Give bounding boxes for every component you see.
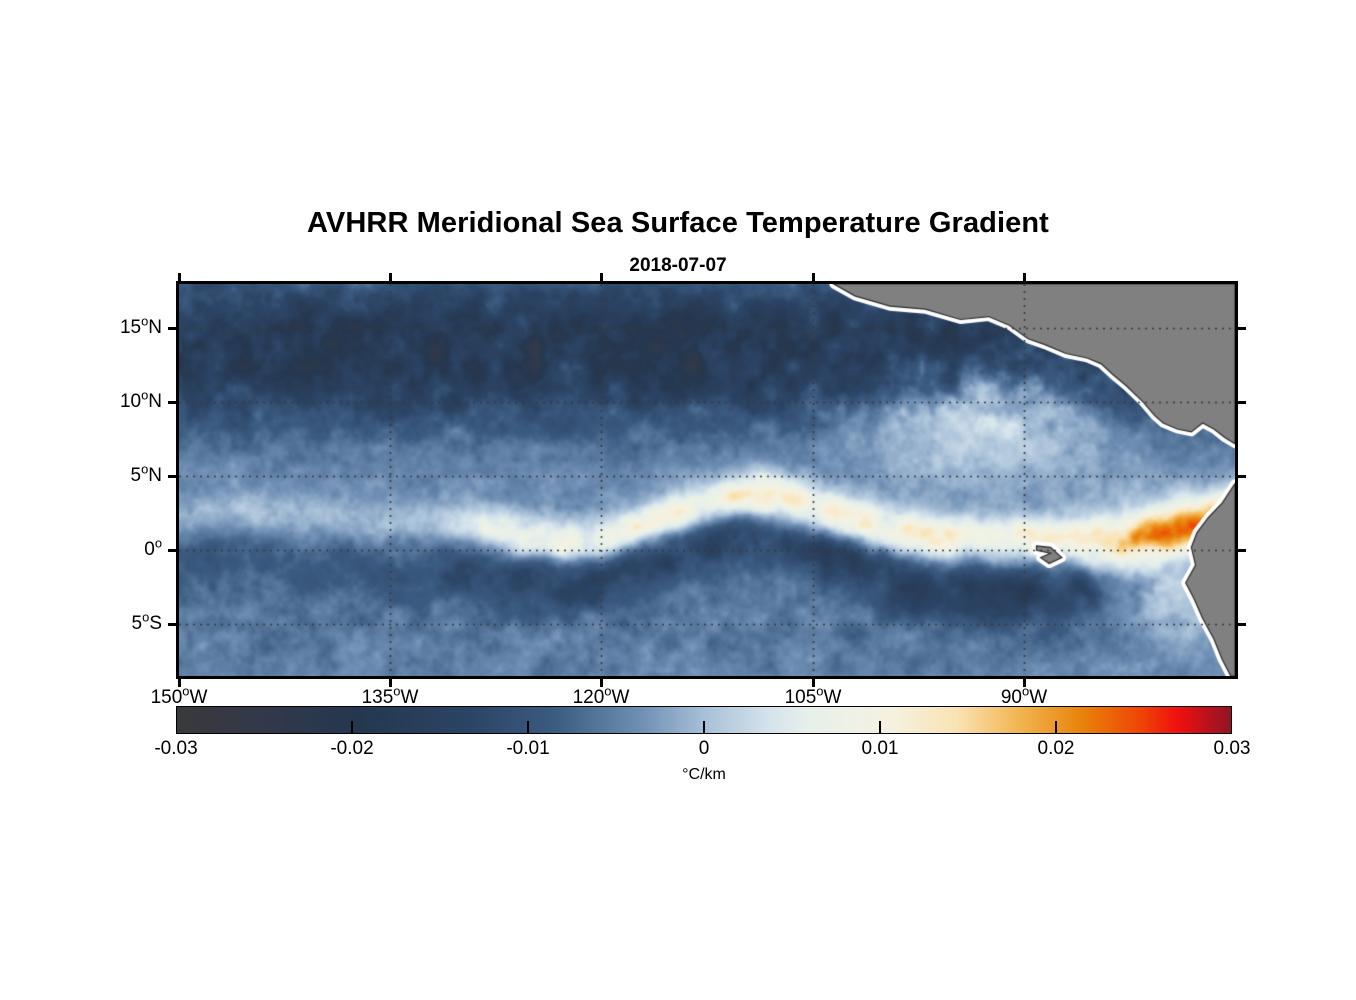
xtick-mark — [600, 273, 603, 284]
xtick-mark — [389, 676, 392, 687]
ytick-mark — [1235, 475, 1246, 478]
ytick-mark — [1235, 623, 1246, 626]
sst-gradient-heatmap — [179, 284, 1235, 676]
colorbar-tick-label-3: 0 — [699, 738, 710, 760]
colorbar-units-label: °C/km — [176, 766, 1232, 784]
page-title: AVHRR Meridional Sea Surface Temperature… — [0, 207, 1356, 240]
colorbar-tick-mark — [351, 721, 353, 734]
ytick-mark — [168, 475, 179, 478]
colorbar-tick-label-1: -0.02 — [330, 738, 373, 760]
colorbar-tick-label-4: 0.01 — [862, 738, 899, 760]
colorbar-tick-mark — [1055, 721, 1057, 734]
colorbar[interactable]: -0.03-0.02-0.0100.010.020.03 °C/km — [176, 706, 1232, 734]
colorbar-tick-mark — [703, 721, 705, 734]
xtick-mark — [812, 676, 815, 687]
ytick-mark — [1235, 327, 1246, 330]
ytick-mark — [168, 401, 179, 404]
colorbar-tick-label-5: 0.02 — [1038, 738, 1075, 760]
ytick-mark — [168, 623, 179, 626]
colorbar-tick-mark — [879, 721, 881, 734]
colorbar-tick-label-2: -0.01 — [506, 738, 549, 760]
ytick-mark — [1235, 549, 1246, 552]
ytick-label-3: 0o — [144, 539, 162, 561]
xtick-mark — [1023, 273, 1026, 284]
ytick-mark — [168, 327, 179, 330]
colorbar-tick-label-0: -0.03 — [154, 738, 197, 760]
ytick-label-4: 5oS — [132, 613, 162, 635]
ytick-label-0: 15oN — [120, 317, 162, 339]
ytick-mark — [1235, 401, 1246, 404]
xtick-mark — [600, 676, 603, 687]
xtick-mark — [812, 273, 815, 284]
figure-subtitle-date: 2018-07-07 — [0, 255, 1356, 277]
ytick-mark — [168, 549, 179, 552]
colorbar-tick-label-6: 0.03 — [1214, 738, 1251, 760]
ytick-label-2: 5oN — [131, 465, 163, 487]
map-axes[interactable]: 15oN10oN5oN0o5oS150oW135oW120oW105oW90oW — [176, 281, 1238, 679]
figure-canvas: AVHRR Meridional Sea Surface Temperature… — [0, 0, 1356, 1000]
colorbar-tick-mark — [527, 721, 529, 734]
xtick-mark — [178, 273, 181, 284]
xtick-mark — [389, 273, 392, 284]
xtick-mark — [178, 676, 181, 687]
ytick-label-1: 10oN — [120, 391, 162, 413]
